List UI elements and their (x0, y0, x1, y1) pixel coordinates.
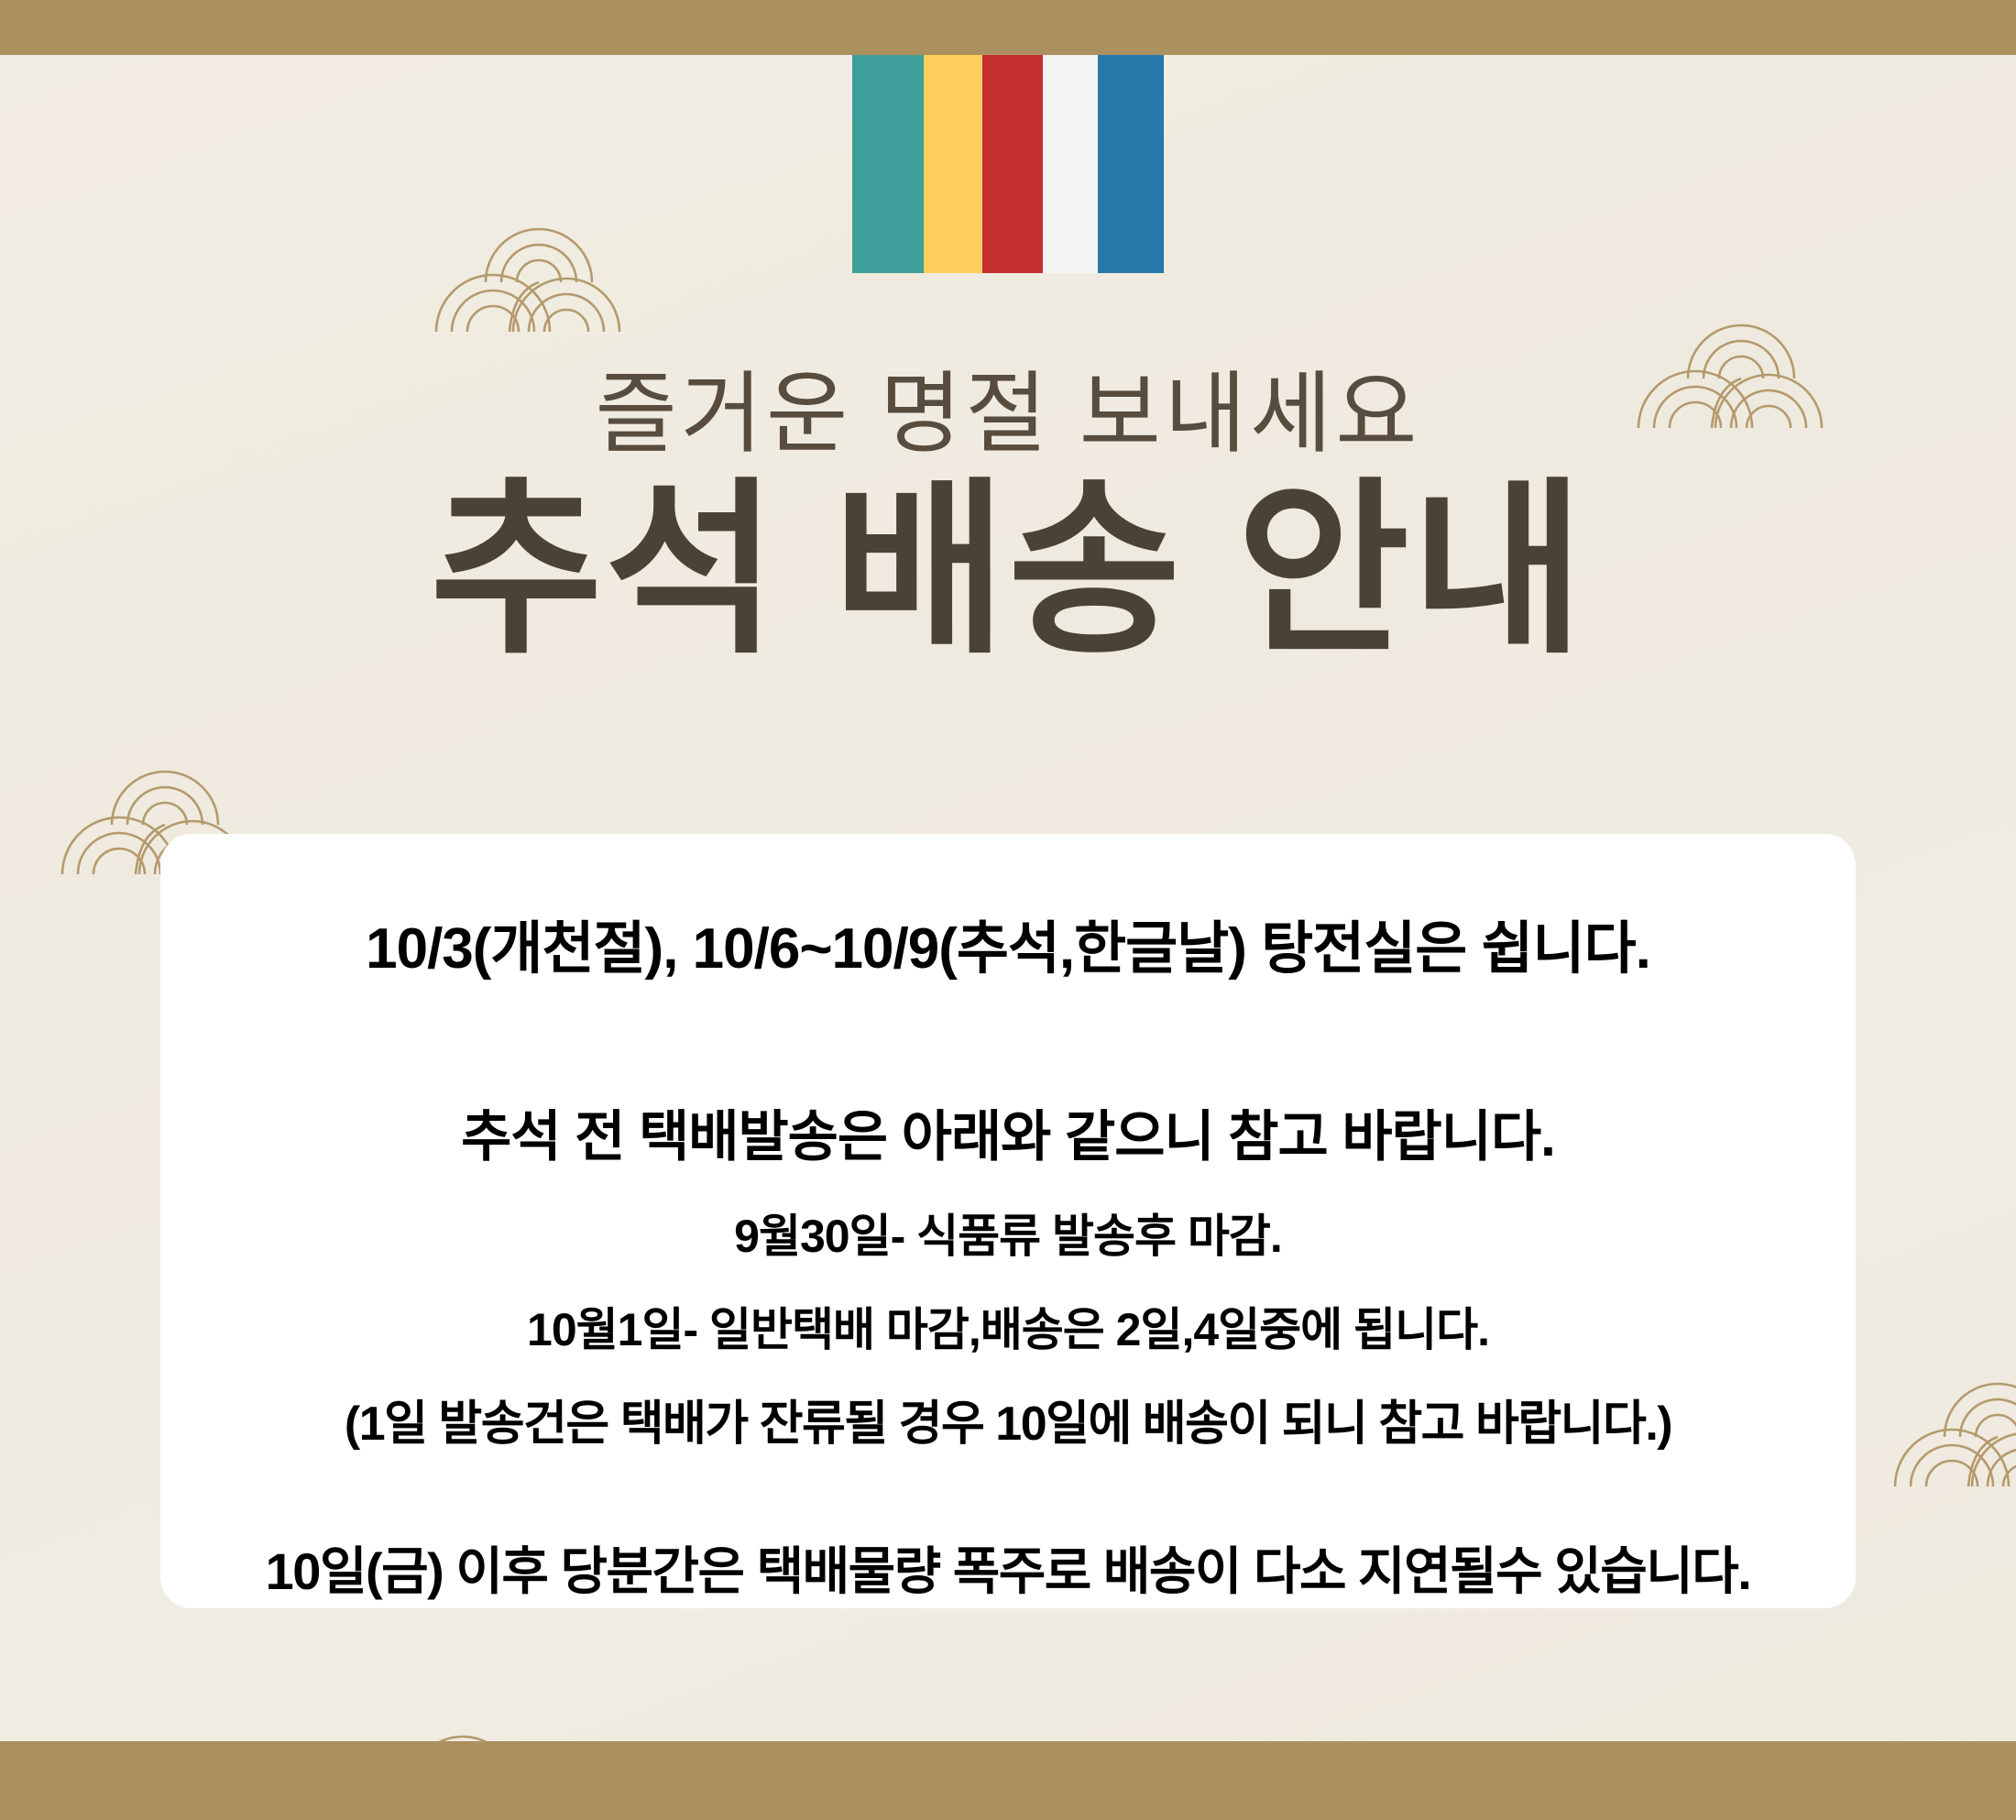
notice-note: (1일 발송건은 택배가 잔류될 경우 10일에 배송이 되니 참고 바랍니다.… (197, 1385, 1819, 1453)
notice-item: 10월1일- 일반택배 마감,배송은 2일,4일중에 됩니다. (197, 1293, 1819, 1359)
notice-card: 10/3(개천절), 10/6~10/9(추석,한글날) 탕전실은 쉽니다. 추… (160, 834, 1856, 1608)
notice-headline: 10/3(개천절), 10/6~10/9(추석,한글날) 탕전실은 쉽니다. (197, 902, 1819, 984)
bottom-gold-band (0, 1741, 2016, 1820)
page-title: 추석 배송 안내 (0, 469, 2016, 672)
top-gold-band (0, 0, 2016, 55)
ribbon-stripe-white (1043, 53, 1098, 273)
ribbon-stripe-yellow (924, 53, 982, 273)
notice-item: 9월30일- 식품류 발송후 마감. (197, 1200, 1819, 1266)
ribbon-stripe-red (982, 53, 1043, 273)
poster-subtitle: 즐거운 명절 보내세요 (0, 341, 2016, 470)
notice-footer: 10일(금) 이후 당분간은 택배물량 폭주로 배송이 다소 지연될수 있습니다… (197, 1530, 1819, 1605)
cloud-motif-icon (1869, 1292, 2016, 1503)
cloud-motif-icon (411, 137, 685, 348)
ribbon-stripe-teal (852, 53, 924, 273)
saekdong-stripe-ribbon (852, 53, 1164, 273)
chuseok-delivery-notice-poster: 즐거운 명절 보내세요 추석 배송 안내 10/3(개천절), 10/6~10/… (0, 0, 2016, 1820)
ribbon-stripe-blue (1098, 53, 1164, 273)
notice-lead: 추석 전 택배발송은 아래와 같으니 참고 바랍니다. (197, 1092, 1819, 1172)
